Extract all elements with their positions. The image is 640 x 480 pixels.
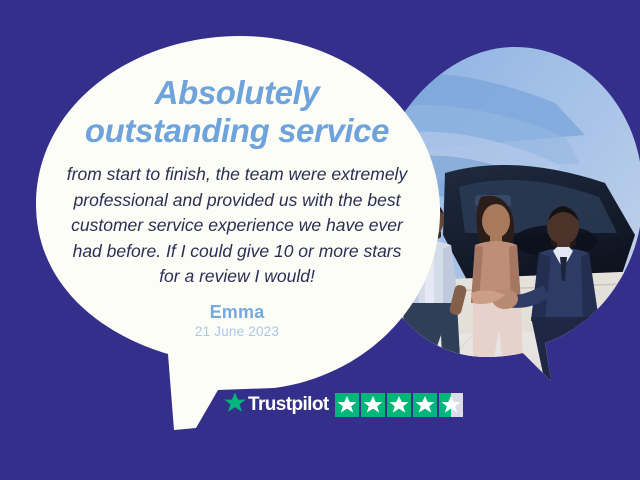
trustpilot-star-2 — [361, 393, 385, 417]
trustpilot-star-5-half — [439, 393, 463, 417]
trustpilot-star-4 — [413, 393, 437, 417]
headline-line-1: Absolutely — [52, 74, 422, 112]
trustpilot-star-3 — [387, 393, 411, 417]
body-line-3: customer service experience we have ever — [48, 213, 426, 239]
body-line-5: for a review I would! — [48, 264, 426, 290]
review-content: Absolutely outstanding service from star… — [42, 74, 432, 339]
trustpilot-logo: Trustpilot — [224, 392, 329, 418]
body-line-1: from start to finish, the team were extr… — [48, 162, 426, 188]
trustpilot-star-1 — [335, 393, 359, 417]
review-date: 21 June 2023 — [42, 324, 432, 339]
review-testimonial-graphic: Absolutely outstanding service from star… — [0, 0, 640, 480]
body-line-4: had before. If I could give 10 or more s… — [48, 239, 426, 265]
trustpilot-rating[interactable]: Trustpilot — [224, 392, 463, 418]
trustpilot-star-rating — [335, 393, 463, 417]
trustpilot-wordmark: Trustpilot — [248, 394, 329, 416]
trustpilot-star-icon — [224, 392, 246, 418]
review-body-text: from start to finish, the team were extr… — [42, 162, 432, 290]
review-headline: Absolutely outstanding service — [42, 74, 432, 150]
headline-line-2: outstanding service — [52, 112, 422, 150]
body-line-2: professional and provided us with the be… — [48, 188, 426, 214]
review-author-name: Emma — [42, 302, 432, 323]
